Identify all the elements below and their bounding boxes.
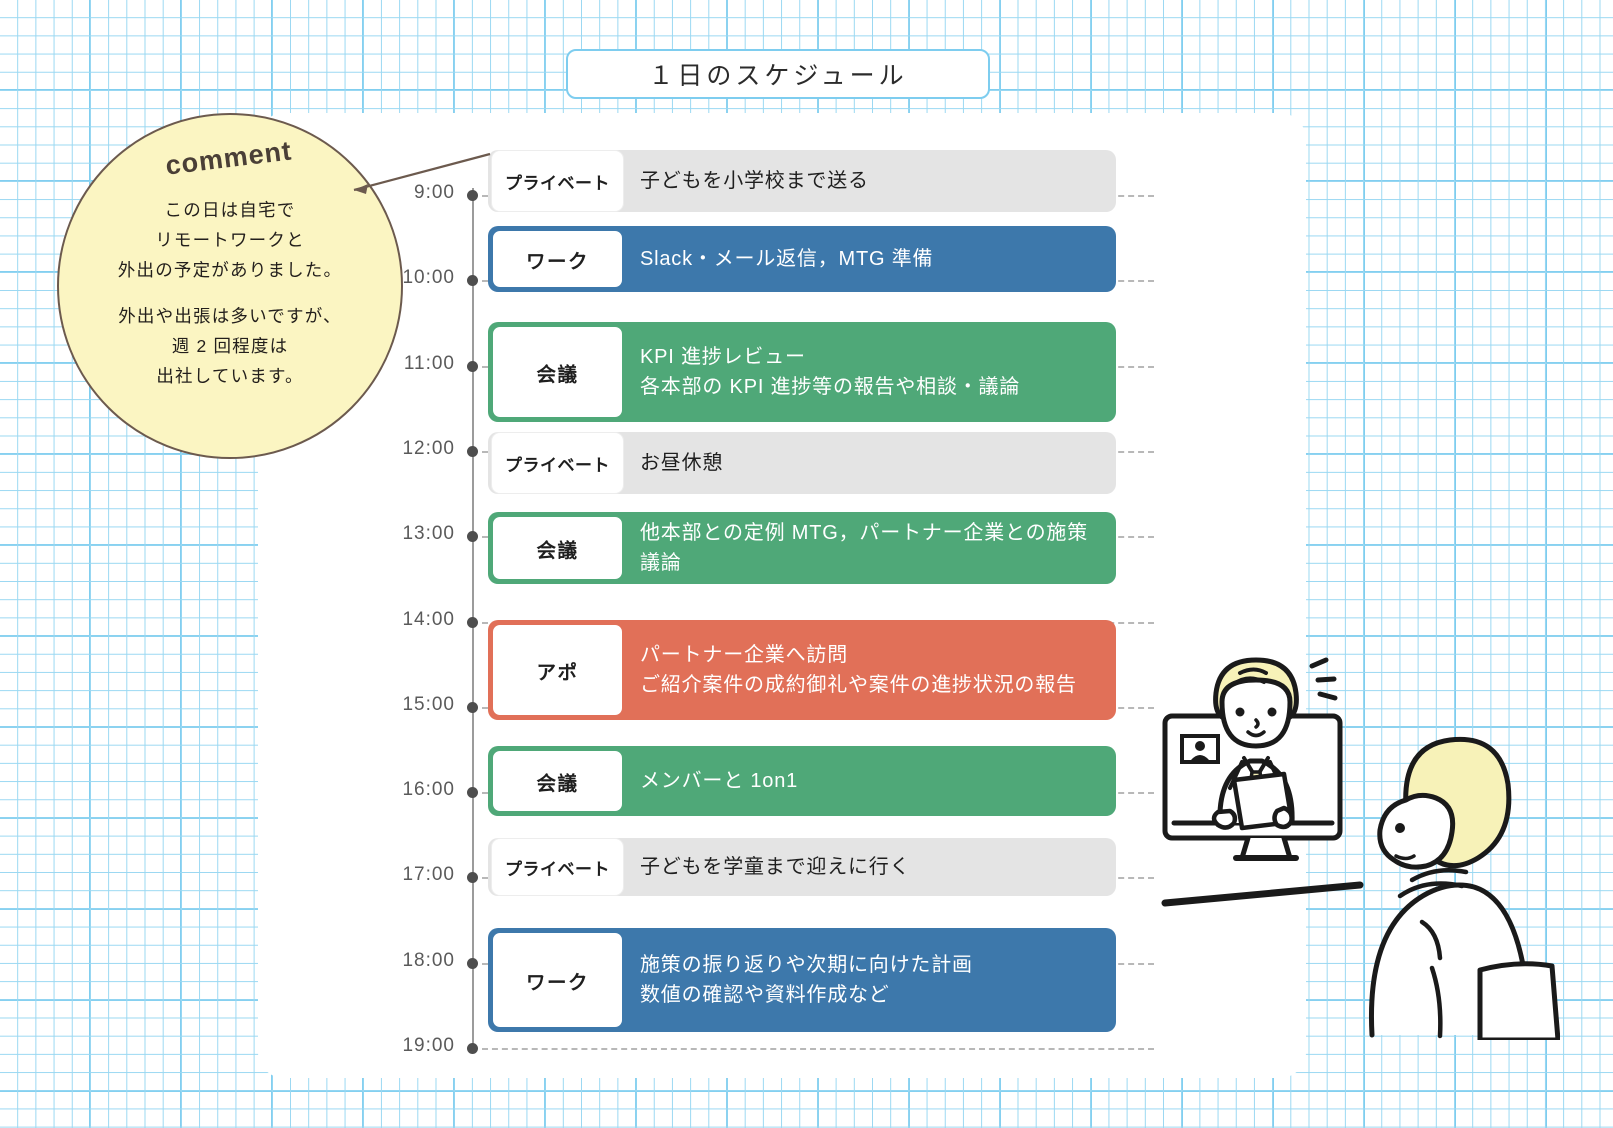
timeline-tick-label: 18:00 [375,950,455,972]
timeline-tick-label: 19:00 [375,1035,455,1057]
timeline-tick-label: 16:00 [375,779,455,801]
schedule-entry-line-1: KPI 進捗レビュー [640,342,1106,372]
schedule-entry-description: 子どもを学童まで迎えに行く [624,838,1116,896]
comment-line-4: 外出や出張は多いですが、 [118,306,342,326]
video-call-illustration [1160,640,1560,1040]
schedule-entry-category: ワーク [491,931,624,1029]
schedule-entry-line-2: ご紹介案件の成約御礼や案件の進捗状況の報告 [640,670,1106,700]
timeline-tick-label: 17:00 [375,864,455,886]
schedule-entry-category: 会議 [491,515,624,581]
schedule-entry[interactable]: 会議メンバーと 1on1 [488,746,1116,816]
timeline-tick-label: 12:00 [375,438,455,460]
schedule-entry[interactable]: 会議KPI 進捗レビュー各本部の KPI 進捗等の報告や相談・議論 [488,322,1116,422]
schedule-entry[interactable]: ワーク施策の振り返りや次期に向けた計画数値の確認や資料作成など [488,928,1116,1032]
schedule-entry[interactable]: プライベート子どもを小学校まで送る [488,150,1116,212]
schedule-entry-line-1: 他本部との定例 MTG，パートナー企業との施策議論 [640,518,1106,578]
schedule-entry[interactable]: プライベートお昼休憩 [488,432,1116,494]
schedule-entry-category: プライベート [491,432,624,494]
comment-line-2: リモートワークと [155,230,305,250]
schedule-entry-category: 会議 [491,325,624,419]
comment-spacer [118,285,342,301]
schedule-entry-category: 会議 [491,749,624,813]
timeline-tick-dot [467,787,478,798]
timeline-tick-dot [467,702,478,713]
comment-bubble: comment この日は自宅で リモートワークと 外出の予定がありました。 外出… [57,113,403,459]
timeline-tick-dot [467,531,478,542]
timeline-tick-dot [467,275,478,286]
schedule-entry-description: 子どもを小学校まで送る [624,150,1116,212]
schedule-entry-description: Slack・メール返信，MTG 準備 [624,226,1116,292]
schedule-entry-description: 施策の振り返りや次期に向けた計画数値の確認や資料作成など [624,928,1116,1032]
timeline-tick-dot [467,958,478,969]
comment-line-5: 週 2 回程度は [172,336,289,356]
schedule-entry[interactable]: ワークSlack・メール返信，MTG 準備 [488,226,1116,292]
schedule-entry-line-1: メンバーと 1on1 [640,766,1106,796]
timeline-tick-dot [467,872,478,883]
schedule-entry-line-1: パートナー企業へ訪問 [640,640,1106,670]
timeline-tick-dot [467,446,478,457]
schedule-entry-category: ワーク [491,229,624,289]
page-title: １日のスケジュール [566,49,990,99]
comment-line-6: 出社しています。 [156,366,303,386]
schedule-entry-description: KPI 進捗レビュー各本部の KPI 進捗等の報告や相談・議論 [624,322,1116,422]
schedule-entry-line-1: 子どもを学童まで迎えに行く [640,852,1106,882]
schedule-entry-category: アポ [491,623,624,717]
schedule-entry[interactable]: アポパートナー企業へ訪問ご紹介案件の成約御礼や案件の進捗状況の報告 [488,620,1116,720]
schedule-entry-line-1: お昼休憩 [640,448,1106,478]
comment-line-3: 外出の予定がありました。 [118,260,342,280]
schedule-entry-line-1: 子どもを小学校まで送る [640,166,1106,196]
timeline-tick-label: 9:00 [375,182,455,204]
schedule-entry-line-2: 各本部の KPI 進捗等の報告や相談・議論 [640,372,1106,402]
comment-line-1: この日は自宅で [165,200,296,220]
timeline-tick-dot [467,361,478,372]
schedule-entry-description: お昼休憩 [624,432,1116,494]
schedule-entry-line-2: 数値の確認や資料作成など [640,980,1106,1010]
schedule-entry[interactable]: 会議他本部との定例 MTG，パートナー企業との施策議論 [488,512,1116,584]
schedule-timeline: 9:0010:0011:0012:0013:0014:0015:0016:001… [400,150,1160,1050]
timeline-tick-dot [467,1043,478,1054]
schedule-entry-category: プライベート [491,838,624,896]
timeline-tick-label: 13:00 [375,523,455,545]
schedule-entry-description: 他本部との定例 MTG，パートナー企業との施策議論 [624,512,1116,584]
schedule-entry-line-1: Slack・メール返信，MTG 準備 [640,244,1106,274]
schedule-entry-category: プライベート [491,150,624,212]
page-title-text: １日のスケジュール [648,56,907,92]
comment-body: この日は自宅で リモートワークと 外出の予定がありました。 外出や出張は多いです… [118,195,342,391]
timeline-tick-guide [482,1048,1154,1050]
comment-label: comment [164,135,295,194]
timeline-tick-dot [467,617,478,628]
timeline-tick-label: 15:00 [375,694,455,716]
schedule-entry-line-1: 施策の振り返りや次期に向けた計画 [640,950,1106,980]
schedule-entry-description: パートナー企業へ訪問ご紹介案件の成約御礼や案件の進捗状況の報告 [624,620,1116,720]
schedule-entry-description: メンバーと 1on1 [624,746,1116,816]
schedule-entry[interactable]: プライベート子どもを学童まで迎えに行く [488,838,1116,896]
timeline-tick-dot [467,190,478,201]
timeline-tick-label: 14:00 [375,609,455,631]
